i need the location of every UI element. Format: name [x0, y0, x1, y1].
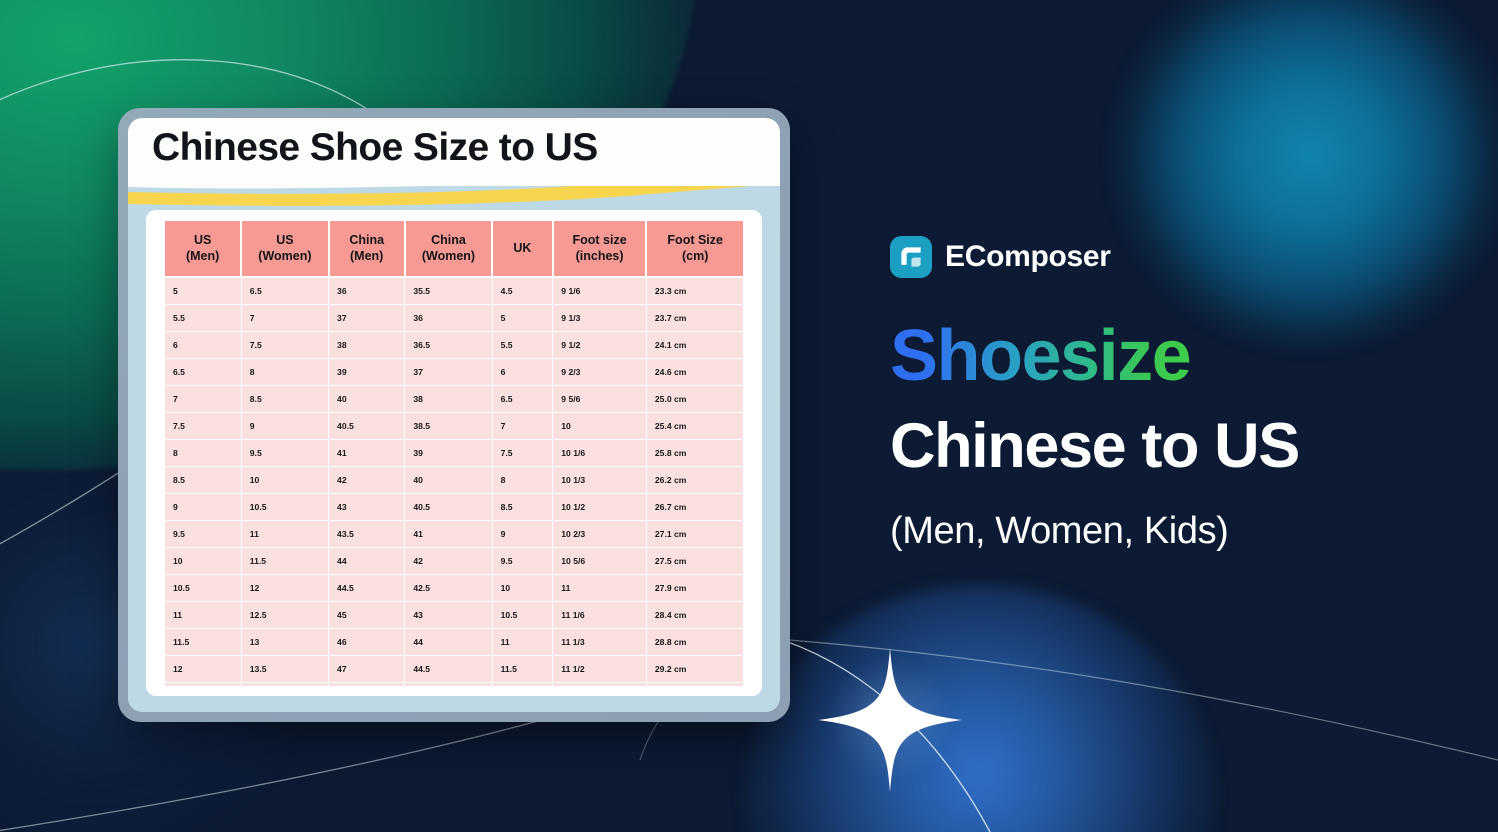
table-cell: 37	[329, 305, 405, 332]
four-point-sparkle-icon	[810, 640, 970, 800]
column-header-6: Foot Size(cm)	[646, 221, 743, 277]
table-cell: 43.5	[329, 521, 405, 548]
column-header-line: US	[167, 233, 238, 248]
table-cell: 8	[241, 359, 328, 386]
table-cell: 27.9 cm	[646, 575, 743, 602]
table-cell: 9.5	[492, 548, 553, 575]
table-row: 67.53836.55.59 1/224.1 cm	[165, 332, 743, 359]
table-row: 1112.5454310.511 1/628.4 cm	[165, 602, 743, 629]
table-cell: 9	[165, 494, 241, 521]
table-cell: 10.5	[492, 602, 553, 629]
table-cell: 9.5	[241, 440, 328, 467]
table-cell: 44	[405, 629, 492, 656]
table-cell: 8.5	[165, 467, 241, 494]
table-cell: 24.6 cm	[646, 359, 743, 386]
card-title: Chinese Shoe Size to US	[152, 126, 598, 170]
table-cell: 9 1/6	[553, 277, 647, 305]
blue-glow	[745, 585, 1215, 832]
column-header-line: Foot size	[556, 233, 644, 248]
column-header-line: China	[332, 233, 402, 248]
table-cell: 12	[241, 575, 328, 602]
table-cell: 10 1/3	[553, 467, 647, 494]
table-cell: 9	[492, 521, 553, 548]
table-cell: 39	[405, 440, 492, 467]
table-header-row: US(Men)US(Women)China(Men)China(Women)UK…	[165, 221, 743, 277]
shoe-size-table: US(Men)US(Women)China(Men)China(Women)UK…	[165, 221, 743, 686]
table-cell: 38	[405, 386, 492, 413]
table-cell: 9.5	[165, 521, 241, 548]
column-header-line: (Men)	[332, 249, 402, 264]
table-cell: 11 1/2	[553, 656, 647, 683]
table-plate: US(Men)US(Women)China(Men)China(Women)UK…	[146, 210, 762, 696]
table-cell: 25.4 cm	[646, 413, 743, 440]
table-header: US(Men)US(Women)China(Men)China(Women)UK…	[165, 221, 743, 277]
table-cell: 47.5	[329, 683, 405, 687]
table-cell: 12.5	[241, 602, 328, 629]
column-header-line: (Men)	[167, 249, 238, 264]
hero-headline: Chinese to US	[890, 414, 1450, 480]
table-row: 89.541397.510 1/625.8 cm	[165, 440, 743, 467]
table-cell: 25.0 cm	[646, 386, 743, 413]
table-cell: 45	[405, 683, 492, 687]
table-cell: 44	[329, 548, 405, 575]
table-cell: 27.1 cm	[646, 521, 743, 548]
table-cell: 6.5	[165, 359, 241, 386]
table-cell: 11 1/3	[553, 629, 647, 656]
table-cell: 37	[405, 359, 492, 386]
table-cell: 11	[553, 575, 647, 602]
table-cell: 11.5	[492, 656, 553, 683]
table-cell: 10 2/3	[553, 521, 647, 548]
table-cell: 12	[492, 683, 553, 687]
table-cell: 36	[405, 305, 492, 332]
poster-background: Chinese Shoe Size to US	[0, 0, 1498, 832]
table-cell: 24.1 cm	[646, 332, 743, 359]
table-viewport: US(Men)US(Women)China(Men)China(Women)UK…	[165, 221, 743, 686]
column-header-line: (Women)	[244, 249, 325, 264]
table-cell: 14	[241, 683, 328, 687]
table-cell: 11	[241, 521, 328, 548]
table-cell: 36.5	[405, 332, 492, 359]
table-row: 11.51346441111 1/328.8 cm	[165, 629, 743, 656]
table-cell: 8	[165, 440, 241, 467]
table-cell: 25.8 cm	[646, 440, 743, 467]
table-cell: 44.5	[329, 575, 405, 602]
column-header-3: China(Women)	[405, 221, 492, 277]
table-cell: 9 1/3	[553, 305, 647, 332]
table-cell: 4.5	[492, 277, 553, 305]
table-cell: 42	[329, 467, 405, 494]
table-cell: 40.5	[405, 494, 492, 521]
table-cell: 5	[492, 305, 553, 332]
table-cell: 12	[165, 656, 241, 683]
table-cell: 28.4 cm	[646, 602, 743, 629]
table-cell: 10	[241, 467, 328, 494]
table-cell: 43	[329, 494, 405, 521]
table-cell: 7	[165, 386, 241, 413]
table-cell: 40.5	[329, 413, 405, 440]
column-header-1: US(Women)	[241, 221, 328, 277]
table-cell: 10.5	[165, 575, 241, 602]
table-cell: 9 1/2	[553, 332, 647, 359]
table-cell: 7	[492, 413, 553, 440]
table-row: 9.51143.541910 2/327.1 cm	[165, 521, 743, 548]
table-cell: 46	[329, 629, 405, 656]
column-header-4: UK	[492, 221, 553, 277]
hero-wordmark: Shoesize	[890, 320, 1190, 392]
table-row: 5.57373659 1/323.7 cm	[165, 305, 743, 332]
table-row: 6.58393769 2/324.6 cm	[165, 359, 743, 386]
table-cell: 11 1/6	[553, 602, 647, 629]
column-header-line: (inches)	[556, 249, 644, 264]
table-row: 7.5940.538.571025.4 cm	[165, 413, 743, 440]
table-cell: 5.5	[492, 332, 553, 359]
table-row: 1011.544429.510 5/627.5 cm	[165, 548, 743, 575]
table-cell: 35.5	[405, 277, 492, 305]
table-cell: 7.5	[165, 413, 241, 440]
table-cell: 10	[165, 548, 241, 575]
table-cell: 10.5	[241, 494, 328, 521]
table-cell: 6	[492, 359, 553, 386]
hero-subhead: (Men, Women, Kids)	[890, 510, 1450, 553]
table-cell: 38.5	[405, 413, 492, 440]
table-row: 8.5104240810 1/326.2 cm	[165, 467, 743, 494]
column-header-0: US(Men)	[165, 221, 241, 277]
table-cell: 6.5	[241, 277, 328, 305]
column-header-line: UK	[495, 241, 550, 256]
column-header-line: China	[408, 233, 489, 248]
table-cell: 42	[405, 548, 492, 575]
brand-lockup: EComposer	[890, 236, 1450, 278]
table-cell: 11 2/3	[553, 683, 647, 687]
table-cell: 11.5	[165, 629, 241, 656]
table-cell: 7.5	[492, 440, 553, 467]
table-cell: 5.5	[165, 305, 241, 332]
table-cell: 10	[553, 413, 647, 440]
table-cell: 13.5	[241, 656, 328, 683]
table-cell: 43	[405, 602, 492, 629]
table-cell: 44.5	[405, 656, 492, 683]
table-cell: 6	[165, 332, 241, 359]
table-cell: 36	[329, 277, 405, 305]
table-cell: 11	[165, 602, 241, 629]
table-row: 12.51447.5451211 2/329.6 cm	[165, 683, 743, 687]
table-cell: 28.8 cm	[646, 629, 743, 656]
table-cell: 9 2/3	[553, 359, 647, 386]
table-row: 10.51244.542.5101127.9 cm	[165, 575, 743, 602]
table-cell: 10 1/2	[553, 494, 647, 521]
table-cell: 26.2 cm	[646, 467, 743, 494]
table-cell: 6.5	[492, 386, 553, 413]
table-cell: 8	[492, 467, 553, 494]
size-chart-card: Chinese Shoe Size to US	[118, 108, 790, 722]
table-cell: 7.5	[241, 332, 328, 359]
column-header-line: (Women)	[408, 249, 489, 264]
table-cell: 26.7 cm	[646, 494, 743, 521]
table-cell: 9 5/6	[553, 386, 647, 413]
table-row: 56.53635.54.59 1/623.3 cm	[165, 277, 743, 305]
column-header-line: Foot Size	[649, 233, 741, 248]
table-cell: 42.5	[405, 575, 492, 602]
table-cell: 7	[241, 305, 328, 332]
table-cell: 5	[165, 277, 241, 305]
table-cell: 12.5	[165, 683, 241, 687]
ecomposer-logo-icon	[890, 236, 932, 278]
brand-name: EComposer	[945, 240, 1111, 274]
table-cell: 41	[405, 521, 492, 548]
column-header-line: (cm)	[649, 249, 741, 264]
table-row: 1213.54744.511.511 1/229.2 cm	[165, 656, 743, 683]
table-cell: 47	[329, 656, 405, 683]
brand-panel: EComposer Shoesize Chinese to US (Men, W…	[890, 236, 1450, 553]
table-cell: 13	[241, 629, 328, 656]
column-header-line: US	[244, 233, 325, 248]
table-cell: 27.5 cm	[646, 548, 743, 575]
table-cell: 38	[329, 332, 405, 359]
table-cell: 9	[241, 413, 328, 440]
table-cell: 40	[405, 467, 492, 494]
table-cell: 39	[329, 359, 405, 386]
table-body: 56.53635.54.59 1/623.3 cm5.57373659 1/32…	[165, 277, 743, 686]
table-cell: 29.6 cm	[646, 683, 743, 687]
table-cell: 23.7 cm	[646, 305, 743, 332]
table-cell: 8.5	[241, 386, 328, 413]
column-header-2: China(Men)	[329, 221, 405, 277]
table-cell: 41	[329, 440, 405, 467]
table-cell: 10 5/6	[553, 548, 647, 575]
table-row: 910.54340.58.510 1/226.7 cm	[165, 494, 743, 521]
table-cell: 11	[492, 629, 553, 656]
table-cell: 10	[492, 575, 553, 602]
table-cell: 11.5	[241, 548, 328, 575]
table-cell: 45	[329, 602, 405, 629]
table-cell: 10 1/6	[553, 440, 647, 467]
column-header-5: Foot size(inches)	[553, 221, 647, 277]
table-row: 78.540386.59 5/625.0 cm	[165, 386, 743, 413]
card-inner-frame: Chinese Shoe Size to US	[128, 118, 780, 712]
table-cell: 29.2 cm	[646, 656, 743, 683]
table-cell: 23.3 cm	[646, 277, 743, 305]
table-cell: 40	[329, 386, 405, 413]
table-cell: 8.5	[492, 494, 553, 521]
